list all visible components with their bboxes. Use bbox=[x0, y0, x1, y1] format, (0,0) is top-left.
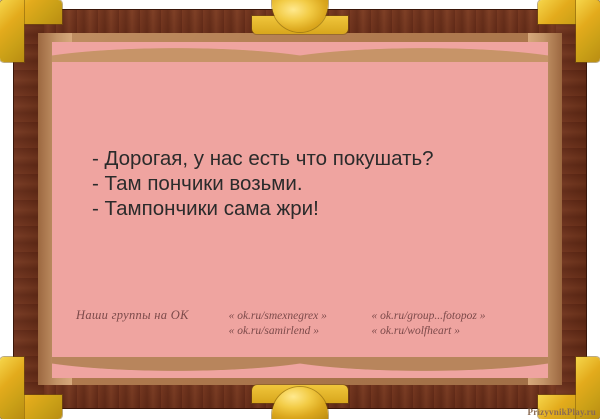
footer-link-smexnegrex[interactable]: « ok.ru/smexnegrex » bbox=[229, 310, 372, 322]
footer-link-samirlend[interactable]: « ok.ru/samirlend » bbox=[229, 325, 372, 337]
footer-label: Наши группы на ОК bbox=[76, 308, 229, 323]
gold-corner-bracket-top-left-icon bbox=[0, 0, 62, 62]
bracket-arm-vertical bbox=[0, 0, 24, 62]
footer-row-1: Наши группы на ОК « ok.ru/smexnegrex » «… bbox=[76, 308, 526, 325]
gold-corner-bracket-top-right-icon bbox=[538, 0, 600, 62]
footer-link-group-fotopoz[interactable]: « ok.ru/group...fotopoz » bbox=[372, 310, 527, 322]
joke-text-block: - Дорогая, у нас есть что покушать? - Та… bbox=[92, 146, 512, 221]
joke-line-1: - Дорогая, у нас есть что покушать? bbox=[92, 146, 512, 171]
watermark: PrizyvnikPlay.ru bbox=[528, 407, 596, 417]
footer-row-2: « ok.ru/samirlend » « ok.ru/wolfheart » bbox=[76, 325, 526, 342]
page-curve-top bbox=[52, 36, 548, 62]
bracket-arm-vertical bbox=[0, 357, 24, 419]
joke-image-canvas: - Дорогая, у нас есть что покушать? - Та… bbox=[0, 0, 600, 419]
page-curve-bottom bbox=[52, 357, 548, 383]
footer-credits: Наши группы на ОК « ok.ru/smexnegrex » «… bbox=[76, 308, 526, 342]
gold-dome-ornament-top-icon bbox=[252, 0, 348, 34]
bracket-arm-vertical bbox=[576, 0, 600, 62]
footer-link-wolfheart[interactable]: « ok.ru/wolfheart » bbox=[372, 325, 527, 337]
joke-line-3: - Тампончики сама жри! bbox=[92, 196, 512, 221]
joke-line-2: - Там пончики возьми. bbox=[92, 171, 512, 196]
gold-corner-bracket-bottom-left-icon bbox=[0, 357, 62, 419]
gold-dome-ornament-bottom-icon bbox=[252, 385, 348, 419]
